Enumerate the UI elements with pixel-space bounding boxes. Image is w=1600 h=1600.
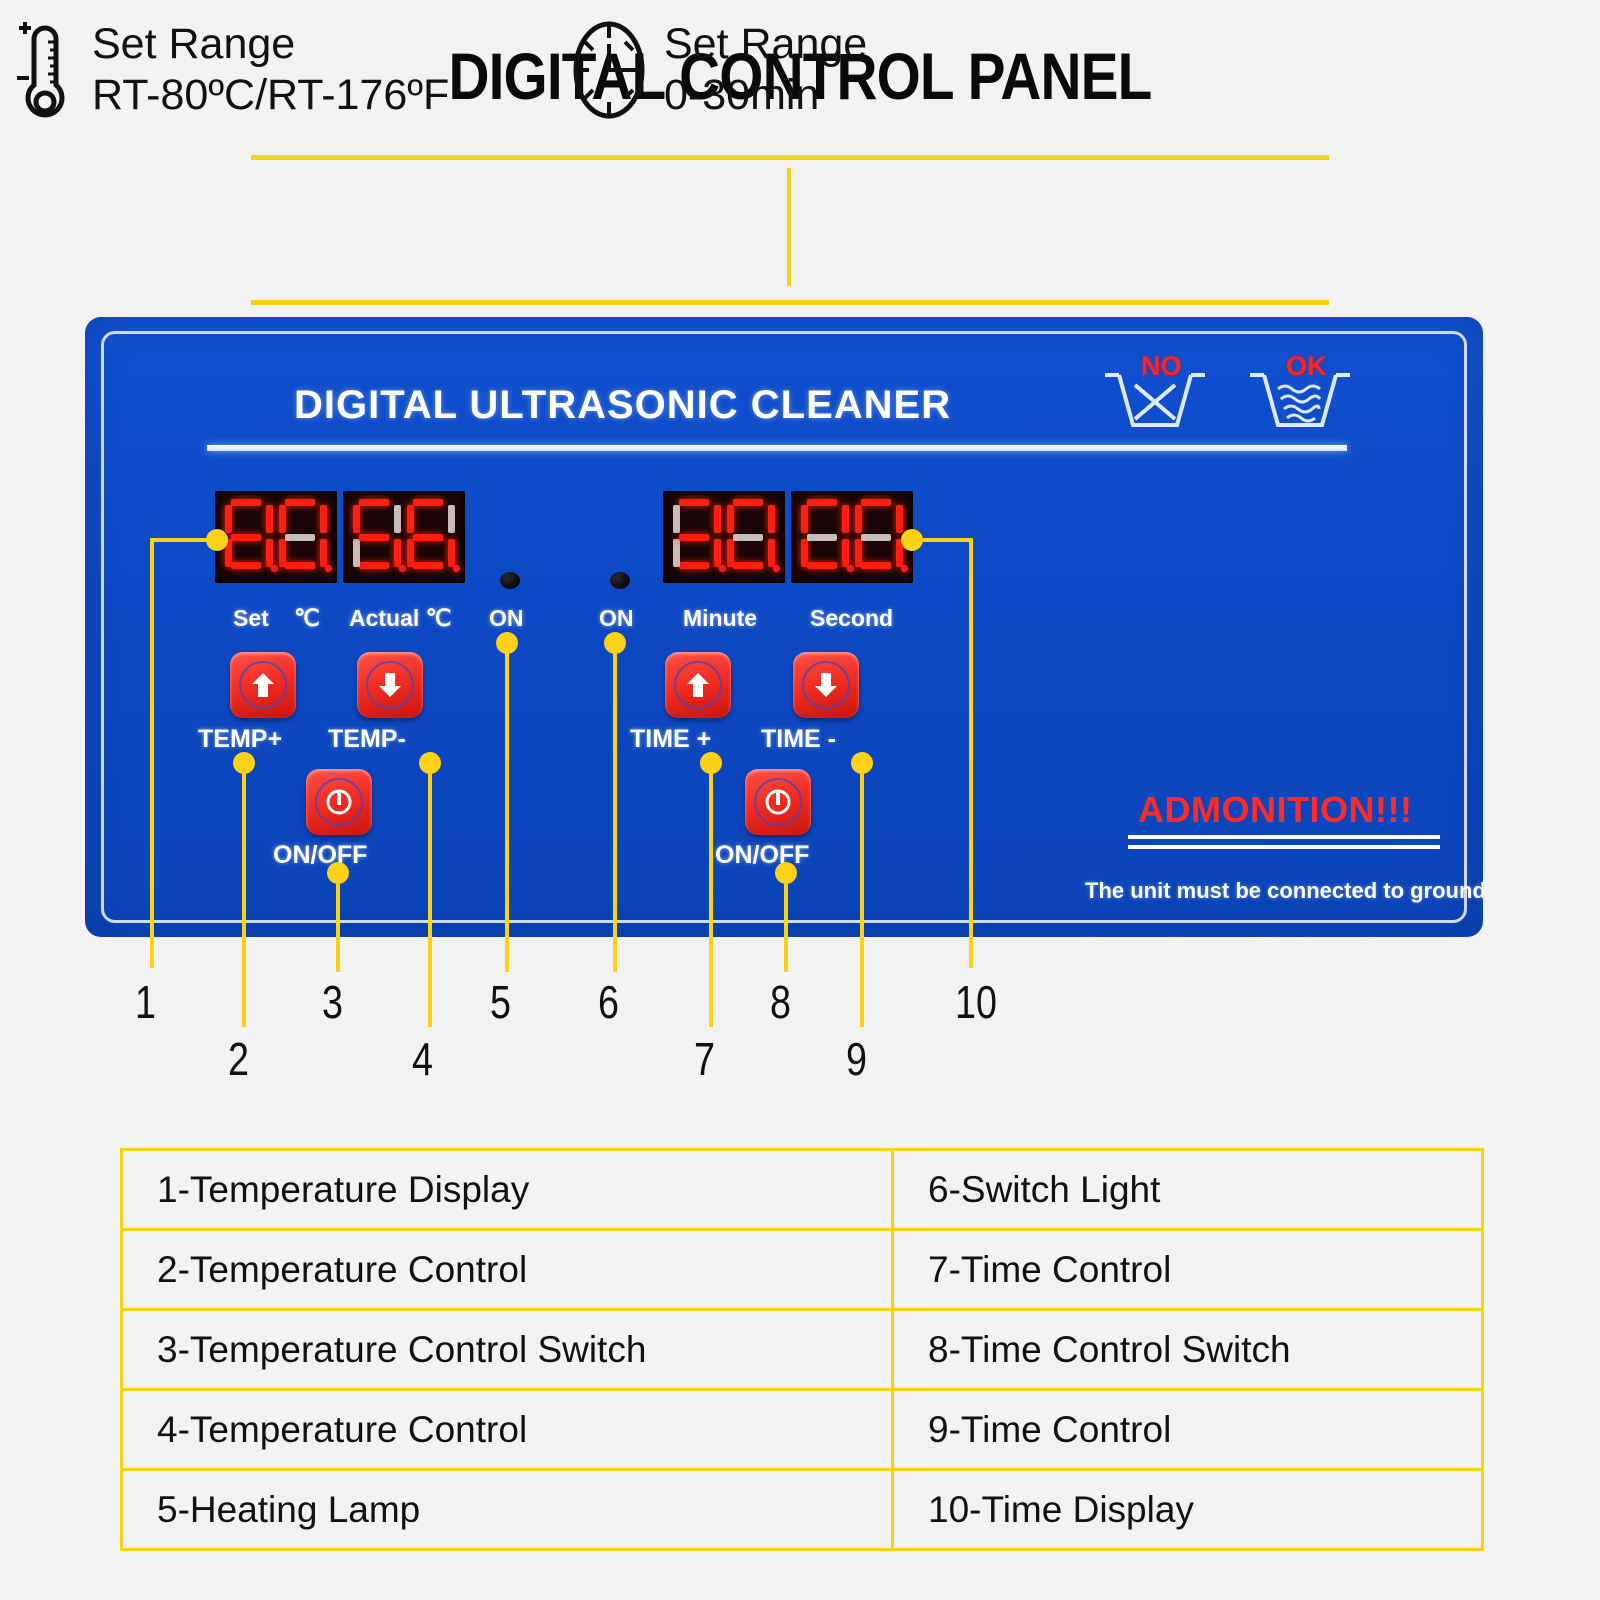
temp-power-label: ON/OFF [273,841,367,870]
basket-no-label: NO [1141,351,1182,382]
callout-number-5: 5 [490,975,511,1029]
second-label: Second [810,605,893,632]
arrow-up-icon [674,661,722,709]
set-label: Set [233,605,269,632]
legend-cell-right: 10-Time Display [893,1470,1483,1550]
heating-lamp-led [500,572,520,589]
spec-time-line1: Set Range [664,20,867,68]
callout-line-6 [613,642,617,972]
callout-number-7: 7 [694,1032,715,1086]
digit [405,498,457,576]
spec-time-line2: 0-30min [664,70,867,121]
minute-display [663,491,785,583]
callout-line-8 [784,872,788,972]
temp-up-label: TEMP+ [198,725,282,754]
legend-cell-right: 7-Time Control [893,1230,1483,1310]
callout-number-8: 8 [770,975,791,1029]
actual-temperature-display [343,491,465,583]
temp-down-button[interactable] [357,652,423,718]
time-power-button[interactable] [745,769,811,835]
callout-line-1 [150,538,154,968]
legend-table: 1-Temperature Display 6-Switch Light 2-T… [120,1148,1484,1551]
basket-ok-label: OK [1286,351,1327,382]
power-icon [754,778,802,826]
legend-cell-left: 1-Temperature Display [122,1150,893,1230]
spec-temperature-text: Set Range RT-80ºC/RT-176ºF [92,19,449,120]
digit [853,498,905,576]
callout-line-7 [709,762,713,1027]
digit [351,498,403,576]
digit [223,498,275,576]
table-row: 5-Heating Lamp 10-Time Display [122,1470,1483,1550]
arrow-down-icon [802,661,850,709]
time-down-label: TIME - [761,725,836,754]
digit [799,498,851,576]
legend-cell-right: 9-Time Control [893,1390,1483,1470]
admonition-rule-1 [1128,835,1440,839]
temp-up-button[interactable] [230,652,296,718]
arrow-up-icon [239,661,287,709]
switch-light-led [610,572,630,589]
clock-icon [570,18,648,123]
table-row: 1-Temperature Display 6-Switch Light [122,1150,1483,1230]
callout-number-9: 9 [846,1032,867,1086]
callout-number-10: 10 [955,975,997,1029]
thermometer-icon [14,14,76,126]
callout-line-3 [336,872,340,972]
spec-temperature-line2: RT-80ºC/RT-176ºF [92,70,449,121]
spec-divider [787,168,791,286]
callout-line-2 [242,762,246,1027]
table-row: 2-Temperature Control 7-Time Control [122,1230,1483,1310]
time-up-label: TIME + [630,725,711,754]
panel-divider [207,445,1347,451]
power-icon [315,778,363,826]
temp-power-button[interactable] [306,769,372,835]
control-panel: DIGITAL ULTRASONIC CLEANER NO OK [85,317,1483,937]
callout-elbow-10 [911,538,973,542]
callout-number-3: 3 [322,975,343,1029]
minute-label: Minute [683,605,757,632]
callout-line-4 [428,762,432,1027]
legend-cell-left: 3-Temperature Control Switch [122,1310,893,1390]
second-display [791,491,913,583]
heat-on-label: ON [489,605,524,632]
basket-ok-icon: OK [1240,355,1360,433]
switch-on-label: ON [599,605,634,632]
callout-line-9 [860,762,864,1027]
digit [725,498,777,576]
admonition-title: ADMONITION!!! [1138,789,1412,831]
digit [277,498,329,576]
digit [671,498,723,576]
legend-cell-left: 4-Temperature Control [122,1390,893,1470]
legend-cell-right: 8-Time Control Switch [893,1310,1483,1390]
spec-time-text: Set Range 0-30min [664,19,867,120]
admonition-item-2: Do not disassemble the unit except for t… [1085,933,1483,937]
legend-cell-left: 2-Temperature Control [122,1230,893,1310]
admonition-item-1: The unit must be connected to ground. [1085,877,1483,905]
callout-number-1: 1 [135,975,156,1029]
legend-table-body: 1-Temperature Display 6-Switch Light 2-T… [122,1150,1483,1550]
time-down-button[interactable] [793,652,859,718]
table-row: 3-Temperature Control Switch 8-Time Cont… [122,1310,1483,1390]
arrow-down-icon [366,661,414,709]
set-temperature-display [215,491,337,583]
table-row: 4-Temperature Control 9-Time Control [122,1390,1483,1470]
callout-line-5 [505,642,509,972]
actual-label: Actual ℃ [349,605,452,632]
basket-no-icon: NO [1095,355,1215,433]
callout-number-2: 2 [228,1032,249,1086]
callout-elbow-1 [150,538,212,542]
legend-cell-right: 6-Switch Light [893,1150,1483,1230]
panel-title: DIGITAL ULTRASONIC CLEANER [294,383,951,428]
admonition-rule-2 [1128,845,1440,849]
callout-number-6: 6 [598,975,619,1029]
callout-line-10 [969,538,973,968]
set-unit-label: ℃ [294,605,320,632]
spec-temperature: Set Range RT-80ºC/RT-176ºF [14,0,449,140]
callout-number-4: 4 [412,1032,433,1086]
temp-down-label: TEMP- [328,725,406,754]
spec-temperature-line1: Set Range [92,20,295,68]
spec-time: Set Range 0-30min [570,0,867,140]
legend-cell-left: 5-Heating Lamp [122,1470,893,1550]
time-up-button[interactable] [665,652,731,718]
time-power-label: ON/OFF [715,841,809,870]
